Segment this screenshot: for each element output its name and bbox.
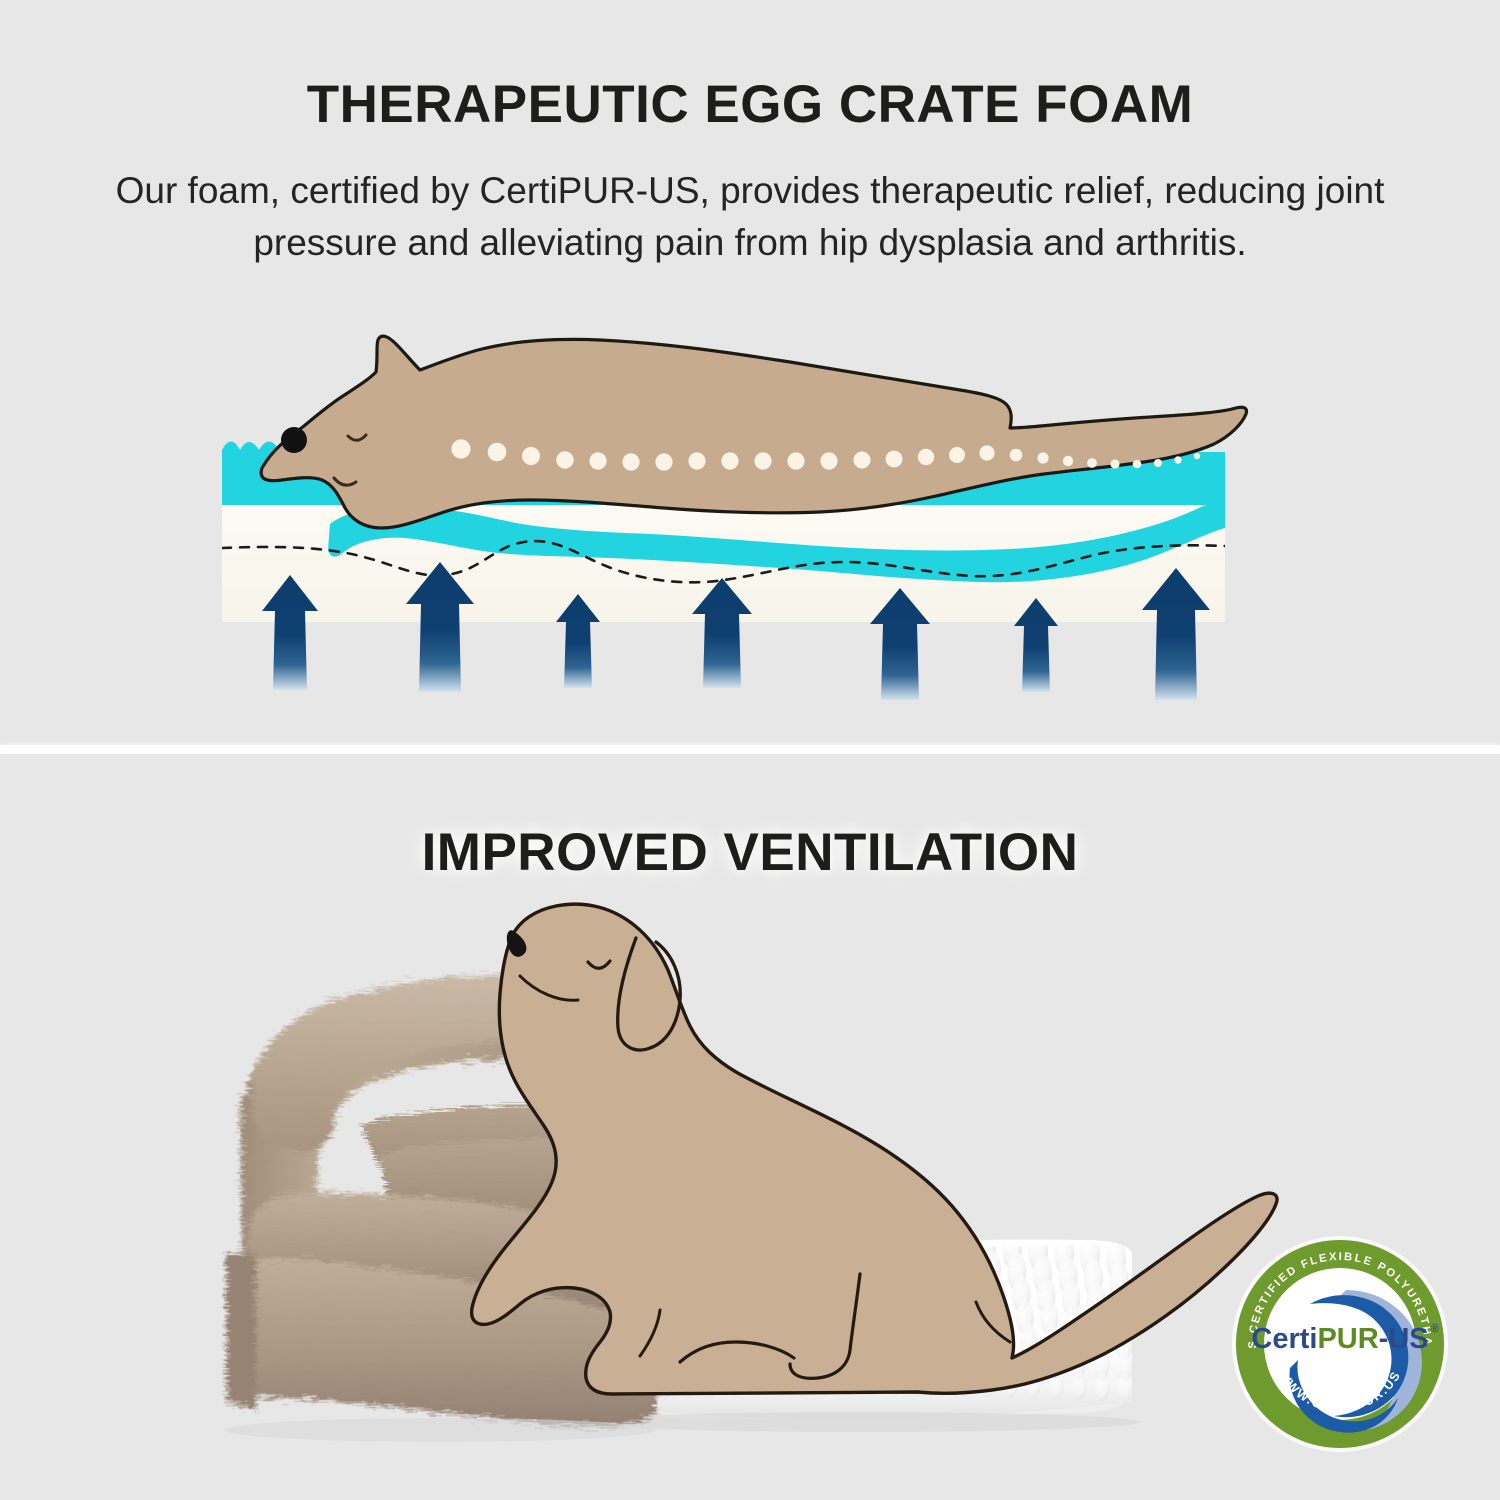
certipur-us-badge: CONTAINS CERTIFIED FLEXIBLE POLYURETHANE… xyxy=(1232,1236,1448,1452)
badge-word-pur: PUR xyxy=(1317,1323,1378,1355)
ventilation-illustration: CONTAINS CERTIFIED FLEXIBLE POLYURETHANE… xyxy=(0,754,1500,1500)
badge-registered-mark: ® xyxy=(1431,1323,1439,1335)
badge-wordmark: Certi PUR -US ® xyxy=(1251,1323,1438,1355)
badge-word-us: -US xyxy=(1379,1323,1429,1355)
therapeutic-foam-illustration xyxy=(0,0,1500,745)
panel-divider xyxy=(0,745,1500,754)
product-infographic: THERAPEUTIC EGG CRATE FOAM Our foam, cer… xyxy=(0,0,1500,1500)
dog-nose xyxy=(281,427,307,453)
badge-word-certi: Certi xyxy=(1251,1323,1317,1355)
